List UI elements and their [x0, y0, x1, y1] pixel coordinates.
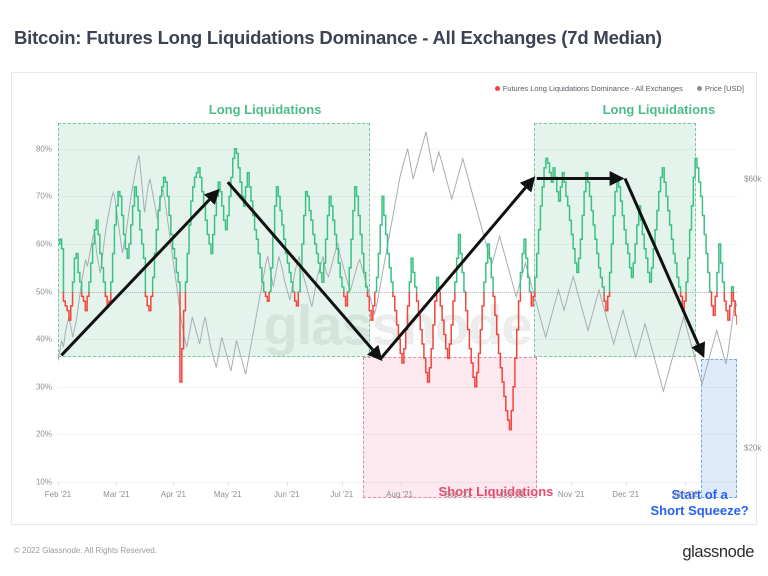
chart-page: Bitcoin: Futures Long Liquidations Domin… [0, 0, 768, 576]
x-tick-label: Feb '21 [45, 490, 71, 499]
x-tick-mark [512, 482, 513, 486]
x-tick-mark [287, 482, 288, 486]
y-tick-label: 40% [36, 335, 52, 344]
y-tick-label: 80% [36, 144, 52, 153]
y-tick-label: 70% [36, 192, 52, 201]
annotation-line: Short Squeeze? [651, 503, 749, 519]
x-tick-mark [626, 482, 627, 486]
glassnode-logo: glassnode [682, 543, 754, 562]
x-tick-label: Apr '21 [161, 490, 186, 499]
x-tick-label: Nov '21 [558, 490, 585, 499]
legend-label: Price [USD] [705, 84, 744, 93]
legend-dot-red [495, 86, 500, 91]
annotation-arrows [58, 125, 737, 482]
x-tick-mark [571, 482, 572, 486]
chart-card: Futures Long Liquidations Dominance - Al… [11, 72, 757, 525]
annotation-line: Long Liquidations [603, 102, 716, 118]
y-tick-label: 60% [36, 240, 52, 249]
chart-legend: Futures Long Liquidations Dominance - Al… [495, 84, 744, 93]
page-title: Bitcoin: Futures Long Liquidations Domin… [14, 27, 662, 49]
x-tick-label: Mar '21 [103, 490, 129, 499]
legend-item[interactable]: Futures Long Liquidations Dominance - Al… [495, 84, 683, 93]
arrow-up-1 [61, 191, 217, 355]
arrow-up-2 [381, 179, 534, 359]
x-tick-mark [685, 482, 686, 486]
x-tick-label: Jan '22 [673, 490, 699, 499]
plot-area: glassnode Long LiquidationsLong Liquidat… [58, 125, 737, 482]
legend-item[interactable]: Price [USD] [697, 84, 744, 93]
gridline [58, 482, 737, 483]
y2-tick-label: $20k [744, 444, 761, 453]
legend-label: Futures Long Liquidations Dominance - Al… [503, 84, 683, 93]
x-tick-mark [228, 482, 229, 486]
x-tick-label: Dec '21 [612, 490, 639, 499]
y-tick-label: 50% [36, 287, 52, 296]
short-squeeze-label: Start of aShort Squeeze? [651, 487, 749, 519]
x-tick-label: Jul '21 [330, 490, 353, 499]
x-tick-mark [458, 482, 459, 486]
copyright-notice: © 2022 Glassnode. All Rights Reserved. [14, 546, 157, 555]
arrow-down-2 [625, 179, 703, 356]
x-tick-label: Jun '21 [274, 490, 300, 499]
y-tick-label: 30% [36, 382, 52, 391]
x-tick-mark [58, 482, 59, 486]
y-tick-label: 20% [36, 430, 52, 439]
legend-dot-gray [697, 86, 702, 91]
x-tick-label: Sep '21 [444, 490, 471, 499]
x-tick-mark [173, 482, 174, 486]
long-liquidations-right-label: Long Liquidations [603, 102, 716, 118]
y-tick-label: 10% [36, 478, 52, 487]
annotation-line: Start of a [651, 487, 749, 503]
x-tick-label: Oct '21 [500, 490, 525, 499]
y2-tick-label: $60k [744, 174, 761, 183]
x-tick-mark [342, 482, 343, 486]
long-liquidations-left-label: Long Liquidations [209, 102, 322, 118]
x-tick-label: Aug '21 [386, 490, 413, 499]
x-tick-mark [400, 482, 401, 486]
x-tick-mark [116, 482, 117, 486]
annotation-line: Long Liquidations [209, 102, 322, 118]
x-tick-label: May '21 [214, 490, 242, 499]
arrow-down-1 [228, 182, 381, 359]
